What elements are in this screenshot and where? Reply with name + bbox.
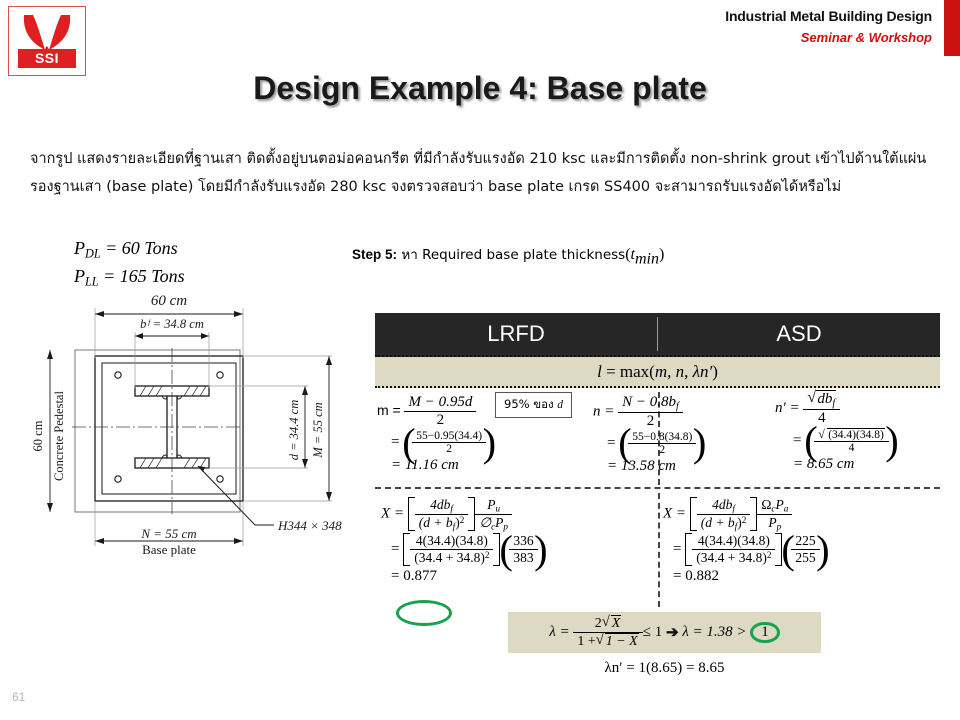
lambda-condition: ≤ 1 xyxy=(643,624,662,641)
ssi-logo: SSI xyxy=(8,6,86,76)
x-asd-bracket-den-pow: 2 xyxy=(742,515,747,525)
x-lrfd-eval-num: 4(34.4)(34.8) xyxy=(410,533,493,549)
leaf-icon xyxy=(19,13,75,53)
dead-load-line: PDL = 60 Tons xyxy=(74,237,185,265)
load-values: PDL = 60 Tons PLL = 165 Tons xyxy=(74,237,185,294)
table-row-x: X = 4dbf (d + bf)2 Pu ∅cPp = 4(34.4)(34.… xyxy=(375,489,940,609)
step-5-label: Step 5: xyxy=(352,247,397,262)
arrow-icon: ➔ xyxy=(666,623,679,642)
formula-n: n = N − 0.8bf 2 = 55−0.8(34.8) 2 = 13.58… xyxy=(593,394,705,475)
l-close-paren: ) xyxy=(712,362,718,382)
x-asd-ratio-num2: P xyxy=(775,497,783,512)
note-95-text: 95% ของ xyxy=(504,397,554,411)
figure-left-dimension: 60 cm xyxy=(31,420,45,451)
live-load-value: = 165 Tons xyxy=(103,266,185,286)
dead-load-subscript: DL xyxy=(85,246,101,260)
x-asd-lhs: X = xyxy=(663,506,686,522)
live-load-subscript: LL xyxy=(85,275,99,289)
note-95-percent-of-d: 95% ของ d xyxy=(495,392,572,418)
slide-header: SSI Industrial Metal Building Design Sem… xyxy=(0,0,960,78)
step-5-symbol-close: ) xyxy=(659,246,664,263)
dead-load-value: = 60 Tons xyxy=(105,238,178,258)
lambda-n-prime-result: λn′ = 1(8.65) = 8.65 xyxy=(508,660,821,677)
nprime-eval-numerator: (34.4)(34.8) xyxy=(827,428,885,441)
x-lrfd-ratio-den: ∅ xyxy=(479,515,491,530)
n-eval-numerator: 55−0.8(34.8) xyxy=(628,431,696,443)
figure-pedestal-label: Concrete Pedestal xyxy=(52,391,66,481)
x-lrfd-eval-den: (34.4 + 34.8) xyxy=(414,550,485,565)
l-symbol: l xyxy=(597,362,602,382)
x-asd-ratio-num: Ω xyxy=(761,497,771,512)
lambda-eval: λ = 1.38 > xyxy=(682,624,746,641)
m-numerator: M − 0.95d xyxy=(404,394,476,411)
nprime-numerator-subscript: f xyxy=(832,398,835,409)
m-lhs: m = xyxy=(377,402,401,418)
step-5-text: Required base plate thickness xyxy=(422,247,625,263)
note-95-symbol: d xyxy=(557,399,563,411)
n-numerator: N − 0.8b xyxy=(622,394,676,410)
x-asd-ratio-den: P xyxy=(768,515,776,530)
nprime-eval-denominator: 4 xyxy=(814,441,889,454)
x-asd-bracket-den: (d + b xyxy=(701,515,735,530)
formula-x-asd: X = 4dbf (d + bf)2 ΩcPa Pp = 4(34.4)(34.… xyxy=(663,497,829,585)
figure-section-label: H344 × 348 xyxy=(277,518,342,533)
highlight-oval-one: 1 xyxy=(750,622,780,644)
row-x-vertical-divider xyxy=(658,493,660,607)
x-asd-eval-den: (34.4 + 34.8) xyxy=(696,550,767,565)
dead-load-symbol: P xyxy=(74,238,85,258)
x-lrfd-result: = 0.877 xyxy=(391,568,547,585)
table-row-l-formula: l = max(m, n, λn′) xyxy=(375,357,940,388)
nprime-lhs: n′ = xyxy=(775,400,800,416)
figure-n-dimension: N = 55 cm xyxy=(140,526,196,541)
x-lrfd-eval-ratio-num: 336 xyxy=(509,533,537,549)
lambda-lhs: λ = xyxy=(549,624,569,641)
lambda-den-a: 1 + xyxy=(577,634,595,649)
base-plate-drawing: 60 cm b ᶠ = 34.8 cm 60 cm Concrete Pedes… xyxy=(22,288,367,620)
header-title-line1: Industrial Metal Building Design xyxy=(725,8,932,24)
table-col-asd: ASD xyxy=(658,313,940,355)
x-lrfd-bracket-num-sub: f xyxy=(450,504,453,514)
table-header-row: LRFD ASD xyxy=(375,313,940,357)
ssi-logo-text: SSI xyxy=(18,49,76,68)
l-args: m, n, λn′ xyxy=(655,362,712,382)
formula-m: m = M − 0.95d 2 = 55−0.95(34.4) 2 = 11.1… xyxy=(377,394,495,474)
x-asd-eval-den-pow: 2 xyxy=(767,550,772,560)
n-numerator-subscript: f xyxy=(676,401,679,412)
m-eval-denominator: 2 xyxy=(412,442,486,455)
x-asd-bracket-num: 4db xyxy=(712,497,732,512)
header-titles: Industrial Metal Building Design Seminar… xyxy=(725,8,932,45)
lambda-formula-box: λ = 2X 1 +1 − X ≤ 1 ➔ λ = 1.38 > 1 xyxy=(508,612,821,653)
lambda-den-sqrt: 1 − X xyxy=(605,633,639,650)
x-asd-eval-ratio-den: 255 xyxy=(791,549,819,566)
intro-paragraph: จากรูป แสดงรายละเอียดที่ฐานเสา ติดตั้งอย… xyxy=(30,145,935,201)
table-row-mn: m = M − 0.95d 2 = 55−0.95(34.4) 2 = 11.1… xyxy=(375,388,940,489)
x-lrfd-bracket-den: (d + b xyxy=(419,515,453,530)
page-title: Design Example 4: Base plate xyxy=(0,70,960,107)
x-lrfd-ratio-num-sub: u xyxy=(495,504,500,514)
m-eval-numerator: 55−0.95(34.4) xyxy=(412,430,486,442)
step-5-thai: หา xyxy=(401,247,417,263)
step-5-heading: Step 5: หา Required base plate thickness… xyxy=(352,243,664,268)
x-asd-bracket-num-sub: f xyxy=(732,504,735,514)
x-asd-ratio-num2-sub: a xyxy=(784,504,789,514)
x-lrfd-bracket-num: 4db xyxy=(430,497,450,512)
x-lrfd-eval-ratio-den: 383 xyxy=(509,549,537,566)
lambda-num-coeff: 2 xyxy=(595,616,602,631)
x-asd-eval-ratio-num: 225 xyxy=(791,533,819,549)
formula-n-prime: n′ = dbf 4 = (34.4)(34.8) 4 = 8.65 cm xyxy=(775,390,898,473)
n-eval-denominator: 2 xyxy=(628,443,696,456)
page-number: 61 xyxy=(12,690,25,704)
x-lrfd-eval-den-pow: 2 xyxy=(485,550,490,560)
header-title-line2: Seminar & Workshop xyxy=(725,30,932,45)
l-equals-max: = max( xyxy=(606,362,655,382)
live-load-symbol: P xyxy=(74,266,85,286)
x-lrfd-bracket-den-pow: 2 xyxy=(460,515,465,525)
figure-m-dimension: M = 55 cm xyxy=(311,402,325,458)
header-red-bar xyxy=(944,0,960,56)
figure-d-dimension: d = 34.4 cm xyxy=(287,400,301,461)
x-asd-result: = 0.882 xyxy=(673,568,829,585)
base-plate-figure: 60 cm b ᶠ = 34.8 cm 60 cm Concrete Pedes… xyxy=(22,288,367,620)
lrfd-asd-comparison-table: LRFD ASD l = max(m, n, λn′) m = M − 0.95… xyxy=(375,313,940,609)
figure-baseplate-label: Base plate xyxy=(142,542,196,557)
formula-x-lrfd: X = 4dbf (d + bf)2 Pu ∅cPp = 4(34.4)(34.… xyxy=(381,497,547,585)
figure-top-dimension: 60 cm xyxy=(151,293,187,309)
x-asd-eval-num: 4(34.4)(34.8) xyxy=(692,533,775,549)
x-lrfd-lhs: X = xyxy=(381,506,404,522)
n-lhs: n = xyxy=(593,403,614,419)
lambda-num-sqrt: X xyxy=(611,615,622,632)
table-col-lrfd: LRFD xyxy=(375,313,657,355)
nprime-numerator: db xyxy=(817,391,832,407)
figure-bf-dimension: b ᶠ = 34.8 cm xyxy=(140,317,204,331)
step-5-symbol-subscript: min xyxy=(635,250,659,267)
